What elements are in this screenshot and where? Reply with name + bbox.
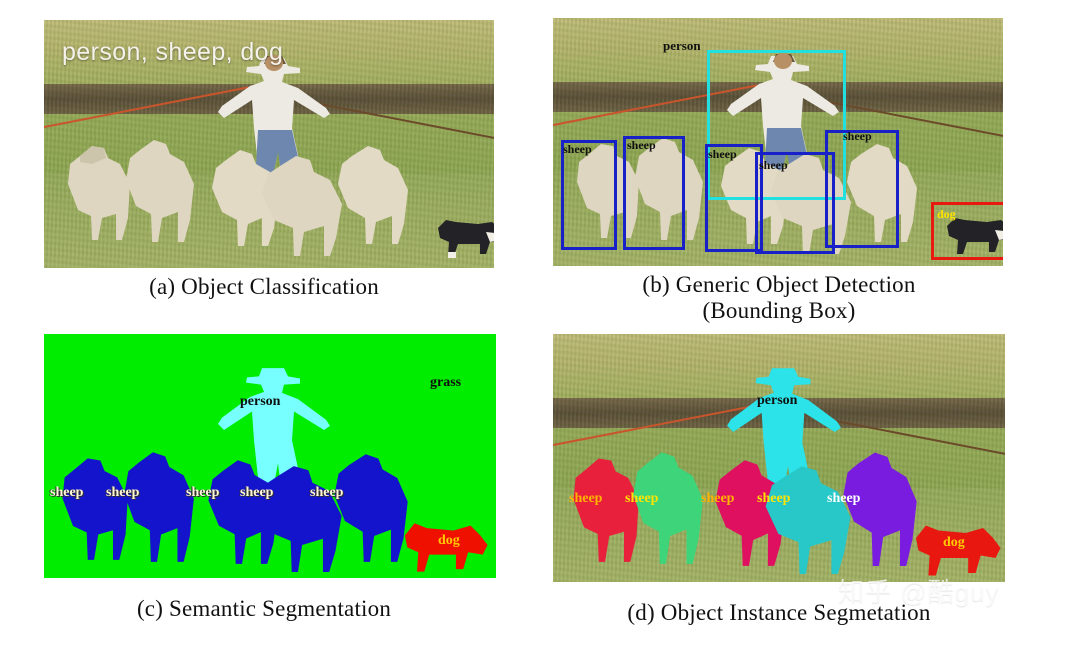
panel-b-image: person sheep sheep sheep sheep sheep dog — [553, 18, 1003, 266]
instance-label-sheep-3: sheep — [701, 492, 734, 506]
seg-label-sheep-5: sheep — [310, 486, 343, 500]
bbox-label-sheep-3: sheep — [708, 148, 737, 160]
bbox-label-sheep-4: sheep — [759, 159, 788, 171]
panel-a-caption: (a) Object Classification — [24, 274, 504, 300]
seg-label-sheep-1: sheep — [50, 486, 83, 500]
instance-label-sheep-4: sheep — [757, 492, 790, 506]
bbox-sheep-5[interactable] — [825, 130, 899, 248]
instance-label-sheep-5: sheep — [827, 492, 860, 506]
panel-c-image: person grass sheep sheep sheep sheep she… — [44, 334, 496, 578]
seg-label-dog: dog — [438, 534, 460, 548]
sheep-figure — [330, 142, 414, 248]
panel-semantic-segmentation: person grass sheep sheep sheep sheep she… — [0, 320, 520, 646]
panel-c-caption: (c) Semantic Segmentation — [24, 596, 504, 622]
dog-figure — [434, 212, 494, 260]
watermark: 知乎 @酷guy — [838, 572, 1000, 609]
seg-label-sheep-3: sheep — [186, 486, 219, 500]
instance-label-sheep-2: sheep — [625, 492, 658, 506]
seg-label-grass: grass — [430, 376, 461, 390]
figure-grid: person, sheep, dog (a) Object Classifica… — [0, 0, 1065, 646]
seg-label-sheep-4: sheep — [240, 486, 273, 500]
bbox-sheep-1[interactable] — [561, 140, 617, 250]
instance-label-dog: dog — [943, 536, 965, 550]
sheep-instance-mask — [835, 448, 923, 566]
sheep-mask — [114, 448, 200, 564]
bbox-label-dog: dog — [937, 208, 956, 220]
instance-label-person: person — [757, 394, 797, 408]
sheep-instance-mask — [623, 448, 709, 566]
classification-label: person, sheep, dog — [62, 38, 283, 67]
seg-label-person: person — [240, 395, 280, 409]
bbox-label-person: person — [663, 39, 701, 52]
panel-object-classification: person, sheep, dog (a) Object Classifica… — [0, 0, 520, 320]
seg-label-sheep-2: sheep — [106, 486, 139, 500]
panel-d-image: person sheep sheep sheep sheep sheep dog — [553, 334, 1005, 582]
panel-generic-object-detection: person sheep sheep sheep sheep sheep dog… — [520, 0, 1065, 320]
bbox-label-sheep-2: sheep — [627, 139, 656, 151]
bbox-label-sheep-5: sheep — [843, 130, 872, 142]
bbox-sheep-2[interactable] — [623, 136, 685, 250]
sheep-figure — [116, 136, 200, 246]
instance-label-sheep-1: sheep — [569, 492, 602, 506]
panel-a-image: person, sheep, dog — [44, 20, 494, 268]
panel-b-caption: (b) Generic Object Detection (Bounding B… — [555, 272, 1003, 324]
bbox-label-sheep-1: sheep — [563, 143, 592, 155]
